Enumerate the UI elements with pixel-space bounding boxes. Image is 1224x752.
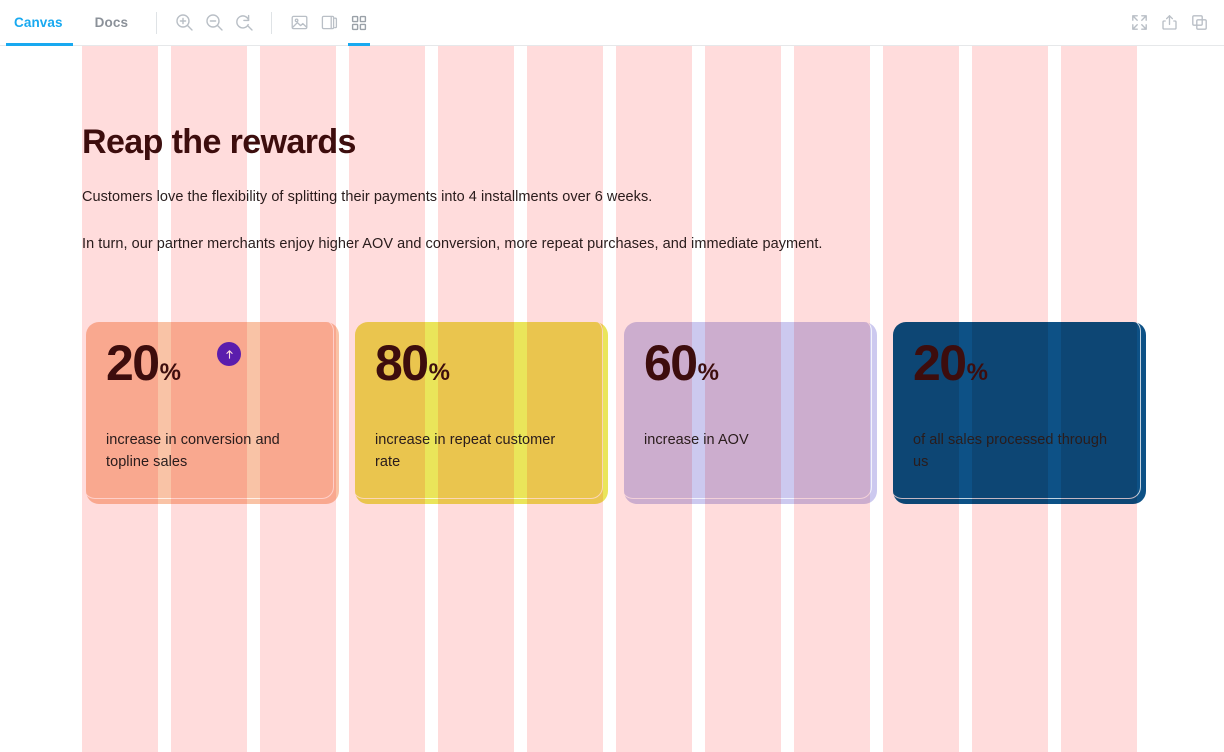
view-tabs: Canvas Docs bbox=[0, 0, 144, 46]
single-page-view-icon[interactable] bbox=[314, 0, 344, 46]
canvas-content: Reap the rewards Customers love the flex… bbox=[0, 46, 1224, 752]
stat-value: 60 bbox=[644, 338, 697, 388]
stat-caption: increase in repeat customer rate bbox=[375, 430, 575, 474]
stat-value-row: 20 % bbox=[106, 338, 180, 388]
stat-unit: % bbox=[698, 361, 719, 385]
reset-zoom-icon[interactable] bbox=[229, 0, 259, 46]
view-tool-group bbox=[284, 0, 374, 46]
top-toolbar: Canvas Docs bbox=[0, 0, 1224, 46]
canvas-area[interactable]: Reap the rewards Customers love the flex… bbox=[0, 46, 1224, 752]
stat-card[interactable]: 60 % increase in AOV bbox=[620, 318, 873, 500]
zoom-in-icon[interactable] bbox=[169, 0, 199, 46]
stat-unit: % bbox=[967, 361, 988, 385]
zoom-tool-group bbox=[169, 0, 259, 46]
intro-paragraph-1: Customers love the flexibility of splitt… bbox=[82, 187, 652, 207]
stat-unit: % bbox=[429, 361, 450, 385]
toolbar-right-actions bbox=[1124, 0, 1224, 46]
image-view-icon[interactable] bbox=[284, 0, 314, 46]
intro-paragraph-2: In turn, our partner merchants enjoy hig… bbox=[82, 234, 823, 254]
stat-card[interactable]: 20 % of all sales processed through us bbox=[889, 318, 1142, 500]
toolbar-divider-2 bbox=[271, 12, 272, 34]
stat-value: 20 bbox=[913, 338, 966, 388]
arrow-up-icon bbox=[224, 349, 235, 360]
stat-caption: increase in AOV bbox=[644, 430, 844, 452]
tab-docs-label: Docs bbox=[95, 15, 128, 30]
stat-card[interactable]: 80 % increase in repeat customer rate bbox=[351, 318, 604, 500]
tab-docs[interactable]: Docs bbox=[79, 0, 144, 46]
stat-value-row: 60 % bbox=[644, 338, 718, 388]
tab-canvas-label: Canvas bbox=[14, 15, 63, 30]
duplicate-icon[interactable] bbox=[1184, 0, 1214, 46]
stat-value: 20 bbox=[106, 338, 159, 388]
stat-card-group: 20 % increase in conversion and topline … bbox=[82, 318, 1144, 508]
arrow-up-badge bbox=[217, 342, 241, 366]
zoom-out-icon[interactable] bbox=[199, 0, 229, 46]
fullscreen-icon[interactable] bbox=[1124, 0, 1154, 46]
stat-value-row: 80 % bbox=[375, 338, 449, 388]
page-title: Reap the rewards bbox=[82, 124, 356, 161]
stat-caption: increase in conversion and topline sales bbox=[106, 430, 306, 474]
share-icon[interactable] bbox=[1154, 0, 1184, 46]
grid-view-icon[interactable] bbox=[344, 0, 374, 46]
stat-unit: % bbox=[160, 361, 181, 385]
stat-value: 80 bbox=[375, 338, 428, 388]
stat-card[interactable]: 20 % increase in conversion and topline … bbox=[82, 318, 335, 500]
stat-caption: of all sales processed through us bbox=[913, 430, 1113, 474]
toolbar-divider-1 bbox=[156, 12, 157, 34]
stat-value-row: 20 % bbox=[913, 338, 987, 388]
tab-canvas[interactable]: Canvas bbox=[0, 0, 79, 46]
